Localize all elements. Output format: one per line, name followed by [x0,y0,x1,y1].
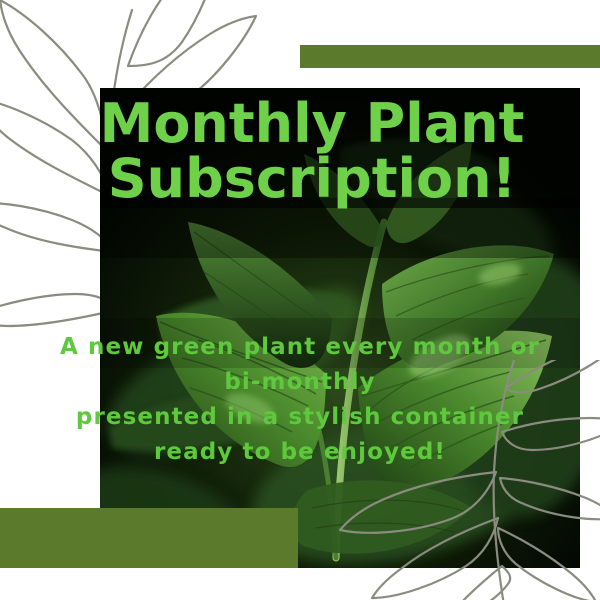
bottom-accent-bar-left [0,508,298,568]
plant-photo-illustration [100,88,580,568]
hero-photo [100,88,580,568]
top-accent-bar [300,45,600,68]
poster-canvas: Monthly Plant Subscription! A new green … [0,0,600,600]
